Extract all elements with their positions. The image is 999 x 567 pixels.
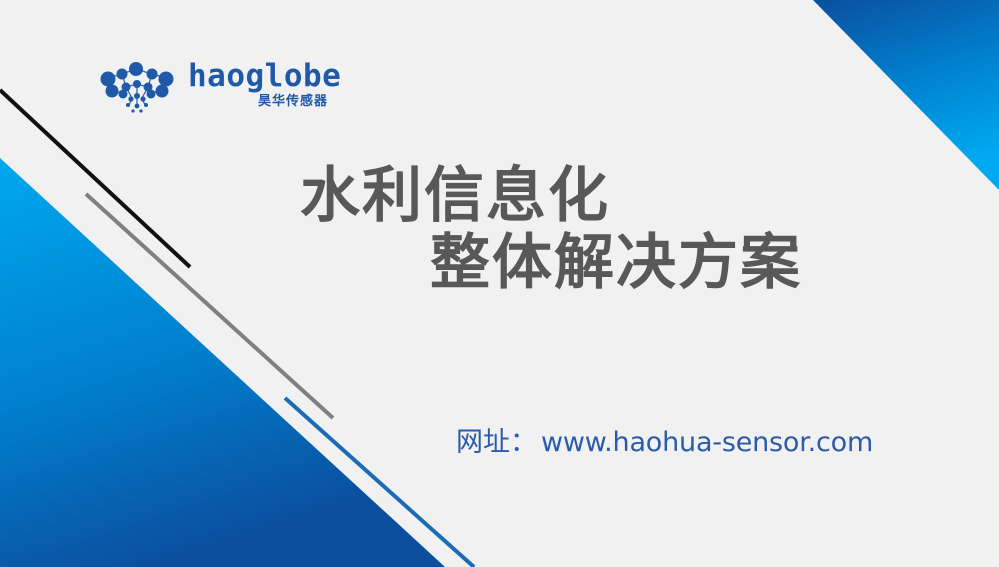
molecular-network-logo-icon — [96, 60, 182, 116]
website-url-link[interactable]: www.haohua-sensor.com — [541, 427, 873, 458]
right-gradient-triangle — [813, 0, 999, 190]
page-title-line-1: 水利信息化 — [300, 163, 920, 230]
page-title: 水利信息化 整体解决方案 — [300, 163, 920, 297]
page-title-line-2: 整体解决方案 — [430, 230, 920, 297]
website-line: 网址： www.haohua-sensor.com — [456, 420, 873, 459]
brand-logo[interactable]: haoglobe 昊华传感器 — [96, 58, 326, 120]
logo-text-block: haoglobe 昊华传感器 — [188, 58, 328, 118]
logo-subtitle: 昊华传感器 — [258, 95, 328, 108]
website-label: 网址： — [456, 420, 537, 459]
logo-wordmark: haoglobe — [188, 61, 341, 92]
slide-root: haoglobe 昊华传感器 水利信息化 整体解决方案 网址： www.haoh… — [0, 0, 999, 567]
